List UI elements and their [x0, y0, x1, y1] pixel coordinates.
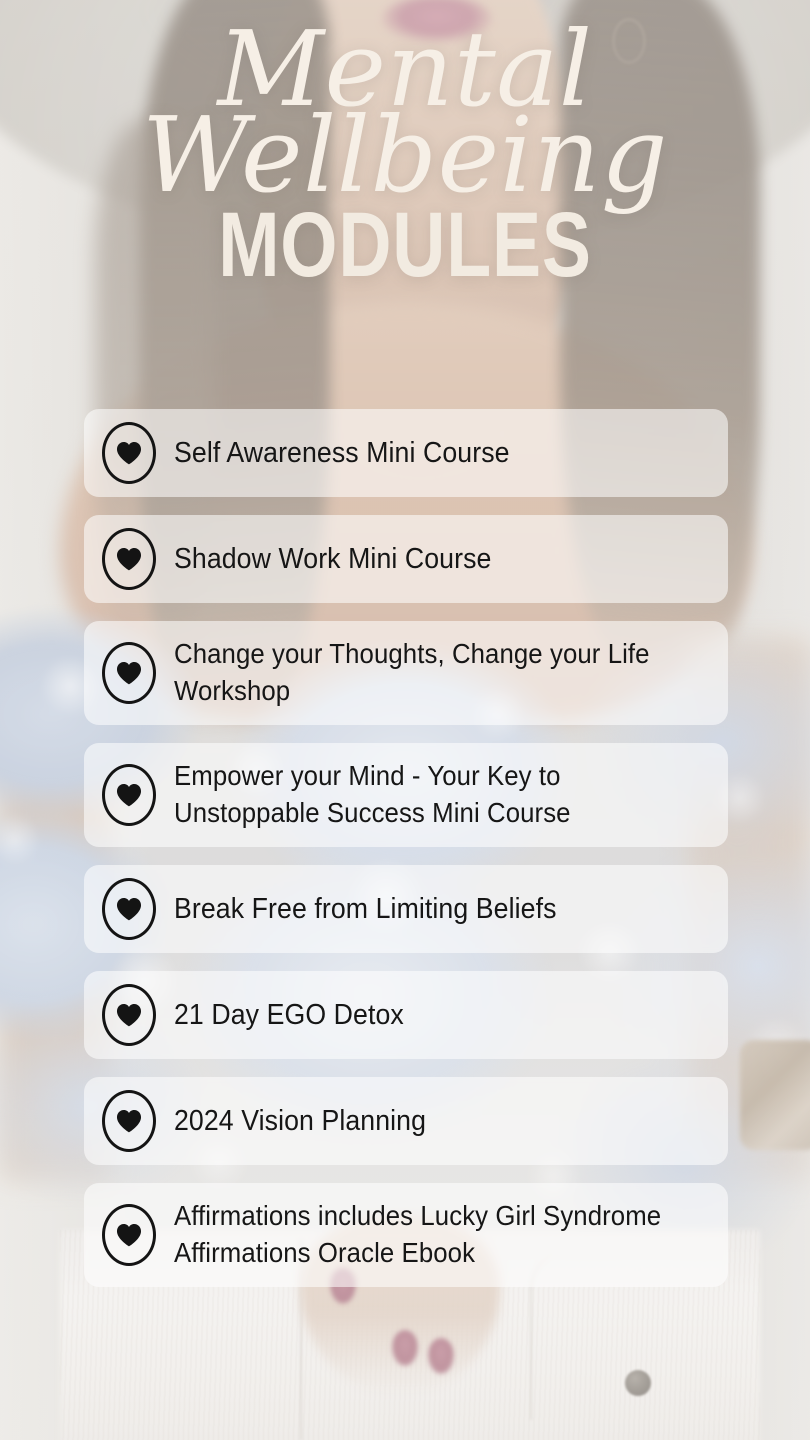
- module-list-item-8[interactable]: Affirmations includes Lucky Girl Syndrom…: [84, 1183, 728, 1287]
- module-label: Self Awareness Mini Course: [174, 434, 510, 472]
- poster-content: Mental Wellbeing MODULES Self Awareness …: [0, 0, 810, 1440]
- module-label: Change your Thoughts, Change your Life W…: [174, 636, 663, 710]
- heart-icon: [102, 878, 156, 940]
- module-label: Break Free from Limiting Beliefs: [174, 890, 557, 928]
- heart-icon: [102, 1204, 156, 1266]
- module-label: 2024 Vision Planning: [174, 1102, 426, 1140]
- module-list-item-7[interactable]: 2024 Vision Planning: [84, 1077, 728, 1165]
- module-label: Affirmations includes Lucky Girl Syndrom…: [174, 1198, 663, 1272]
- title-script-line-2: Wellbeing: [0, 110, 810, 202]
- heart-icon: [102, 984, 156, 1046]
- heart-icon: [102, 528, 156, 590]
- module-list-item-2[interactable]: Shadow Work Mini Course: [84, 515, 728, 603]
- poster-canvas: Mental Wellbeing MODULES Self Awareness …: [0, 0, 810, 1440]
- module-list-item-6[interactable]: 21 Day EGO Detox: [84, 971, 728, 1059]
- title-block: Mental Wellbeing MODULES: [0, 24, 810, 288]
- page-title: MODULES: [81, 203, 729, 288]
- module-list-item-3[interactable]: Change your Thoughts, Change your Life W…: [84, 621, 728, 725]
- module-list-item-5[interactable]: Break Free from Limiting Beliefs: [84, 865, 728, 953]
- module-list-item-4[interactable]: Empower your Mind - Your Key to Unstoppa…: [84, 743, 728, 847]
- heart-icon: [102, 764, 156, 826]
- heart-icon: [102, 1090, 156, 1152]
- module-label: Shadow Work Mini Course: [174, 540, 491, 578]
- module-label: 21 Day EGO Detox: [174, 996, 404, 1034]
- module-label: Empower your Mind - Your Key to Unstoppa…: [174, 758, 663, 832]
- heart-icon: [102, 422, 156, 484]
- module-list-item-1[interactable]: Self Awareness Mini Course: [84, 409, 728, 497]
- heart-icon: [102, 642, 156, 704]
- module-list: Self Awareness Mini Course Shadow Work M…: [84, 409, 728, 1287]
